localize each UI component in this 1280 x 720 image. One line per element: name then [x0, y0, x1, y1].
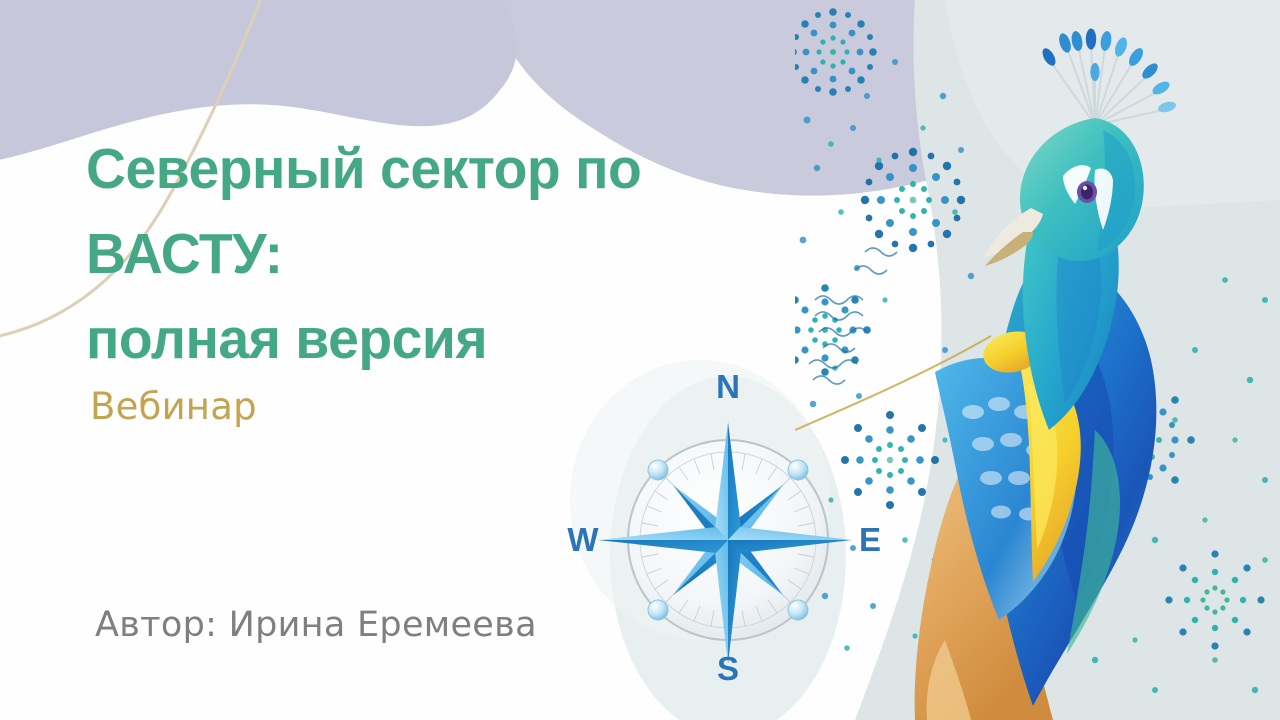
text-column: Северный сектор по ВАСТУ: полная версия … — [0, 0, 800, 720]
compass-label-east: E — [859, 521, 880, 558]
event-type-label: Вебинар — [90, 385, 257, 429]
page-title: Северный сектор по ВАСТУ: полная версия — [86, 127, 765, 382]
title-slide: N W E S Северный сектор по ВАСТУ: полная… — [0, 0, 1280, 720]
author-credit: Автор: Ирина Еремеева — [95, 604, 537, 646]
